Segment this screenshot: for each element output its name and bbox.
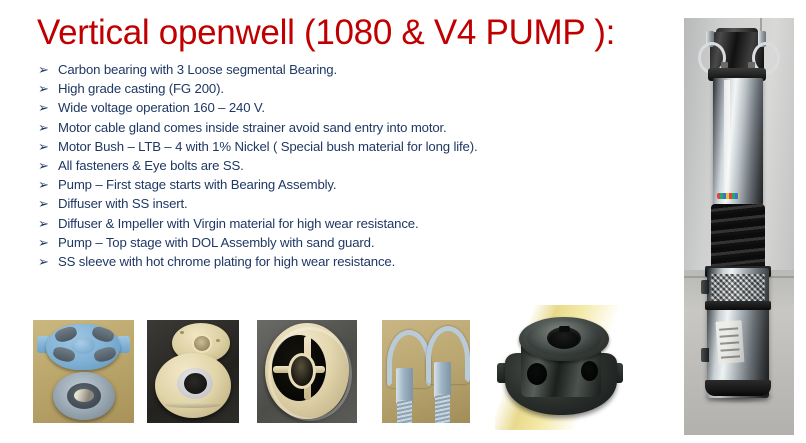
bearing-housing-photo (495, 305, 625, 430)
pump-cable-wires (717, 193, 739, 199)
eye-bolts-photo (382, 320, 470, 423)
slide-canvas: Vertical openwell (1080 & V4 PUMP ): ➢ C… (0, 0, 806, 443)
impeller-hole (216, 339, 220, 342)
disc-key (74, 389, 94, 402)
list-item-label: All fasteners & Eye bolts are SS. (58, 156, 244, 175)
name-plate-line (720, 334, 739, 337)
pump-shadow (702, 390, 776, 404)
list-item: ➢ Wide voltage operation 160 – 240 V. (38, 98, 668, 117)
list-item: ➢ Carbon bearing with 3 Loose segmental … (38, 60, 668, 79)
bearing-hub (71, 337, 95, 354)
name-plate-line (721, 355, 740, 358)
eye-bolt-shank (434, 362, 451, 398)
arrow-bullet-icon: ➢ (38, 60, 58, 79)
impeller-boss (192, 334, 212, 353)
arrow-bullet-icon: ➢ (38, 233, 58, 252)
eye-bolt-thread (397, 400, 412, 423)
motor-lug (701, 280, 709, 294)
motor-name-plate (716, 320, 745, 364)
motor-band-mid (705, 301, 771, 310)
arrow-bullet-icon: ➢ (38, 252, 58, 271)
list-item-label: Diffuser with SS insert. (58, 194, 188, 213)
diffuser-lower-half (155, 353, 231, 418)
arrow-bullet-icon: ➢ (38, 175, 58, 194)
page-title: Vertical openwell (1080 & V4 PUMP ): (37, 13, 657, 53)
list-item: ➢ Diffuser & Impeller with Virgin materi… (38, 214, 668, 233)
feature-bullet-list: ➢ Carbon bearing with 3 Loose segmental … (38, 60, 668, 271)
pump-head-nut (748, 62, 755, 68)
list-item-label: Carbon bearing with 3 Loose segmental Be… (58, 60, 337, 79)
housing-window (527, 363, 547, 385)
housing-window (581, 361, 598, 381)
list-item-label: Wide voltage operation 160 – 240 V. (58, 98, 265, 117)
steel-disc (53, 372, 115, 420)
list-item-label: Pump – First stage starts with Bearing A… (58, 175, 336, 194)
list-item-label: SS sleeve with hot chrome plating for hi… (58, 252, 395, 271)
arrow-bullet-icon: ➢ (38, 79, 58, 98)
list-item: ➢ SS sleeve with hot chrome plating for … (38, 252, 668, 271)
list-item: ➢ Diffuser with SS insert. (38, 194, 668, 213)
diffuser-bore (184, 373, 207, 394)
arrow-bullet-icon: ➢ (38, 137, 58, 156)
vertical-openwell-pump-photo (684, 18, 794, 435)
name-plate-line (719, 327, 738, 330)
housing-keyway (559, 326, 570, 332)
eye-bolt-shank (396, 368, 413, 404)
impeller-hole (180, 331, 184, 334)
motor-lug (701, 348, 709, 362)
list-item-label: Pump – Top stage with DOL Assembly with … (58, 233, 374, 252)
list-item: ➢ All fasteners & Eye bolts are SS. (38, 156, 668, 175)
list-item: ➢ Motor Bush – LTB – 4 with 1% Nickel ( … (38, 137, 668, 156)
list-item: ➢ Pump – Top stage with DOL Assembly wit… (38, 233, 668, 252)
list-item-label: Diffuser & Impeller with Virgin material… (58, 214, 418, 233)
blue-segmental-bearing-photo (33, 320, 134, 423)
arrow-bullet-icon: ➢ (38, 194, 58, 213)
list-item-label: Motor Bush – LTB – 4 with 1% Nickel ( Sp… (58, 137, 477, 156)
list-item-label: Motor cable gland comes inside strainer … (58, 118, 447, 137)
arrow-bullet-icon: ➢ (38, 156, 58, 175)
sleeve-highlight (724, 80, 730, 202)
arrow-bullet-icon: ➢ (38, 214, 58, 233)
chrome-plated-ss-sleeve (713, 78, 763, 205)
diffuser-rib (165, 402, 221, 408)
cream-diffuser-ring-photo (257, 320, 357, 423)
arrow-bullet-icon: ➢ (38, 118, 58, 137)
eye-bolt-thread (435, 394, 450, 423)
arrow-bullet-icon: ➢ (38, 98, 58, 117)
diffuser-rim-highlight (268, 327, 352, 421)
list-item: ➢ Motor cable gland comes inside straine… (38, 118, 668, 137)
list-item-label: High grade casting (FG 200). (58, 79, 224, 98)
pump-head-nut (721, 62, 728, 68)
name-plate-line (720, 341, 739, 344)
list-item: ➢ High grade casting (FG 200). (38, 79, 668, 98)
cream-impeller-photo (147, 320, 239, 423)
list-item: ➢ Pump – First stage starts with Bearing… (38, 175, 668, 194)
name-plate-line (721, 348, 740, 351)
